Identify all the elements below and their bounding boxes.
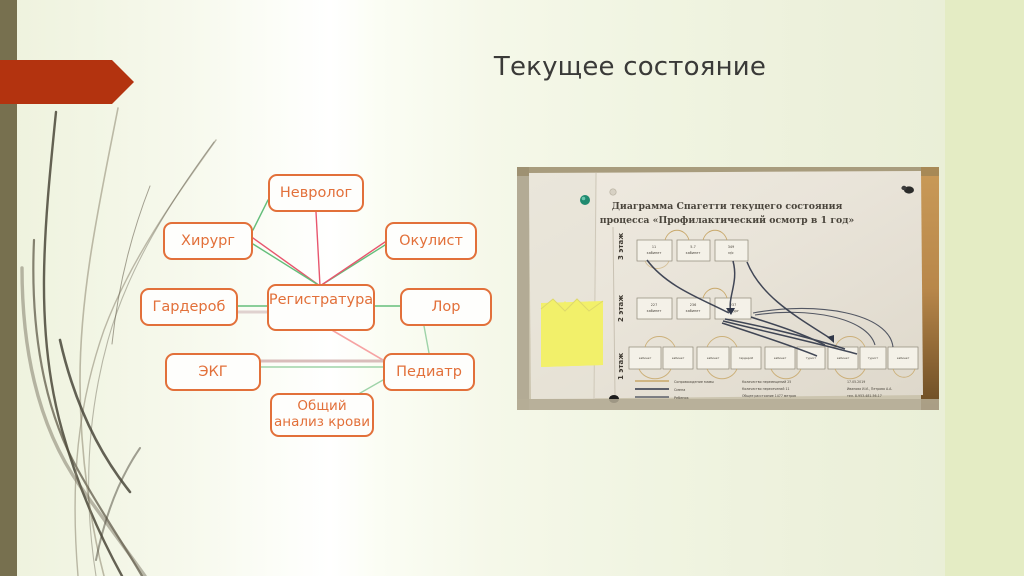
svg-text:11: 11 [652, 245, 656, 249]
svg-text:227: 227 [651, 303, 657, 307]
svg-text:кабинет: кабинет [639, 356, 652, 360]
node-label: Лор [432, 299, 461, 316]
mindmap-node-hirurg[interactable]: Хирург [163, 222, 253, 260]
svg-text:Количество перемещений: Количество перемещений 25 [742, 380, 791, 384]
svg-text:турист: турист [868, 356, 879, 360]
mindmap-node-ekg[interactable]: ЭКГ [165, 353, 261, 391]
svg-text:кабинет: кабинет [686, 309, 701, 313]
mindmap-node-nevrolog[interactable]: Невролог [268, 174, 364, 212]
svg-text:3 этаж: 3 этаж [617, 233, 625, 260]
node-label: Хирург [181, 233, 235, 250]
node-label: Регистратура [269, 292, 373, 309]
svg-text:Количество пересечений: Количество пересечений 11 [742, 387, 790, 391]
svg-text:Диаграмма Спагетти текущего со: Диаграмма Спагетти текущего состояния [612, 201, 843, 212]
slide-right-panel [945, 0, 1024, 576]
svg-text:кабинет: кабинет [837, 356, 850, 360]
svg-text:гардероб: гардероб [739, 356, 754, 360]
svg-text:Общее расстояние 1: Общее расстояние 1477 метров [742, 394, 796, 398]
svg-text:5-7: 5-7 [690, 245, 696, 249]
svg-text:тел. 8-953-481-56-17: тел. 8-953-481-56-17 [847, 394, 882, 398]
presentation-slide: Текущее состояние [0, 0, 1024, 576]
svg-text:Иванова И.И., Петрова А.А.: Иванова И.И., Петрова А.А. [847, 387, 892, 391]
accent-arrow-banner [0, 60, 134, 104]
mindmap-node-garderob[interactable]: Гардероб [140, 288, 238, 326]
spaghetti-diagram-photo[interactable]: Диаграмма Спагетти текущего состояния пр… [517, 167, 939, 410]
node-label: Окулист [399, 233, 463, 250]
svg-text:кабинет: кабинет [672, 356, 685, 360]
node-label: Невролог [280, 185, 352, 202]
svg-text:кабинет: кабинет [897, 356, 910, 360]
mindmap-node-registratura[interactable]: Регистратура [267, 284, 375, 331]
mindmap-node-okulist[interactable]: Окулист [385, 222, 477, 260]
svg-text:Смена: Смена [674, 388, 685, 392]
node-label: Общий анализ крови [272, 399, 372, 430]
svg-text:2 этаж: 2 этаж [617, 295, 625, 322]
svg-text:кабинет: кабинет [647, 309, 662, 313]
svg-text:турист: турист [806, 356, 817, 360]
svg-text:349: 349 [728, 245, 734, 249]
mindmap-node-obshchiy-analiz-krovi[interactable]: Общий анализ крови [270, 393, 374, 437]
svg-text:1 этаж: 1 этаж [617, 353, 625, 380]
node-label: Педиатр [396, 364, 462, 381]
svg-text:процесса «Профилактический осм: процесса «Профилактический осмотр в 1 го… [600, 215, 855, 226]
svg-text:Сопровождение мамы: Сопровождение мамы [674, 380, 714, 384]
svg-text:кабинет: кабинет [647, 251, 662, 255]
svg-text:м/с: м/с [728, 251, 734, 255]
svg-text:236: 236 [690, 303, 696, 307]
svg-text:кабинет: кабинет [774, 356, 787, 360]
mindmap-node-pediatr[interactable]: Педиатр [383, 353, 475, 391]
svg-text:кабинет: кабинет [707, 356, 720, 360]
node-label: Гардероб [153, 299, 226, 316]
svg-text:17.05.2019: 17.05.2019 [847, 380, 865, 384]
page-title: Текущее состояние [330, 52, 930, 82]
node-label: ЭКГ [198, 364, 227, 381]
mindmap-diagram: Невролог Хирург Окулист Гардероб Регистр… [120, 160, 510, 450]
svg-text:кабинет: кабинет [686, 251, 701, 255]
mindmap-node-lor[interactable]: Лор [400, 288, 492, 326]
